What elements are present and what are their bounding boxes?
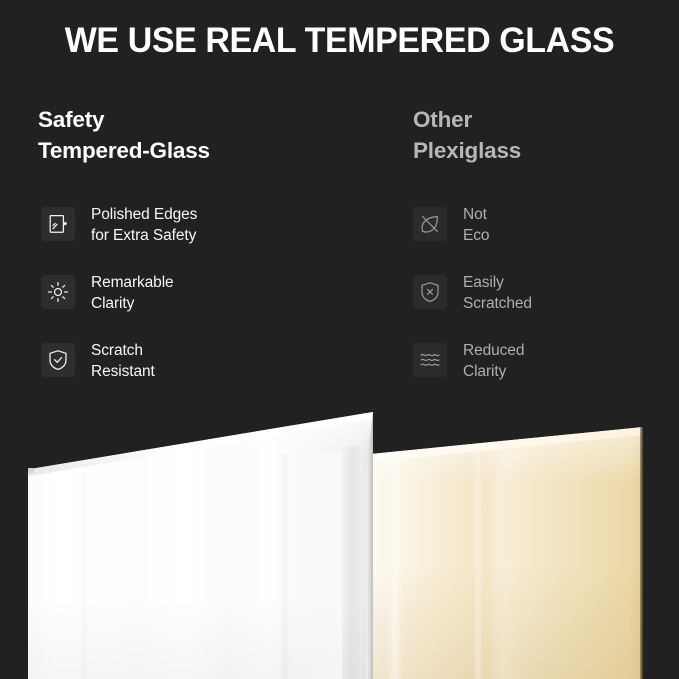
feature-easily-scratched: Easily Scratched [413, 272, 532, 340]
column-other-plexiglass: Other Plexiglass Not Eco [413, 104, 679, 166]
leaf-crossed-out-icon [413, 207, 447, 241]
feature-label-easily-scratched: Easily Scratched [463, 272, 532, 314]
column-title-safety-tempered-glass: Safety Tempered-Glass [38, 104, 368, 166]
feature-label-reduced-clarity: Reduced Clarity [463, 340, 524, 382]
plexiglass-panel [371, 427, 643, 679]
feature-label-scratch-resistant: Scratch Resistant [91, 340, 155, 382]
feature-label-remarkable-clarity: Remarkable Clarity [91, 272, 174, 314]
feature-list-plexiglass: Not Eco Easily Scratched [413, 204, 532, 408]
shield-check-icon [41, 343, 75, 377]
feature-label-not-eco: Not Eco [463, 204, 489, 246]
page-title: WE USE REAL TEMPERED GLASS [10, 20, 669, 62]
column-safety-tempered-glass: Safety Tempered-Glass Polished Edges for… [38, 104, 368, 166]
feature-not-eco: Not Eco [413, 204, 532, 272]
tempered-glass-panel-corner [28, 468, 34, 473]
polished-glass-sparkle-icon [41, 207, 75, 241]
plexiglass-panel-right-edge [640, 427, 643, 679]
product-panels-image [0, 400, 679, 679]
comparison-columns: Safety Tempered-Glass Polished Edges for… [0, 104, 679, 404]
feature-polished-edges: Polished Edges for Extra Safety [41, 204, 197, 272]
feature-remarkable-clarity: Remarkable Clarity [41, 272, 197, 340]
brightness-sun-icon [41, 275, 75, 309]
feature-label-polished-edges: Polished Edges for Extra Safety [91, 204, 197, 246]
product-comparison-infographic: WE USE REAL TEMPERED GLASS Safety Temper… [0, 0, 679, 679]
feature-reduced-clarity: Reduced Clarity [413, 340, 532, 408]
feature-list-tempered-glass: Polished Edges for Extra Safety [41, 204, 197, 408]
wavy-lines-distortion-icon [413, 343, 447, 377]
column-title-other-plexiglass: Other Plexiglass [413, 104, 679, 166]
shield-x-icon [413, 275, 447, 309]
feature-scratch-resistant: Scratch Resistant [41, 340, 197, 408]
tempered-glass-panel [28, 412, 373, 679]
